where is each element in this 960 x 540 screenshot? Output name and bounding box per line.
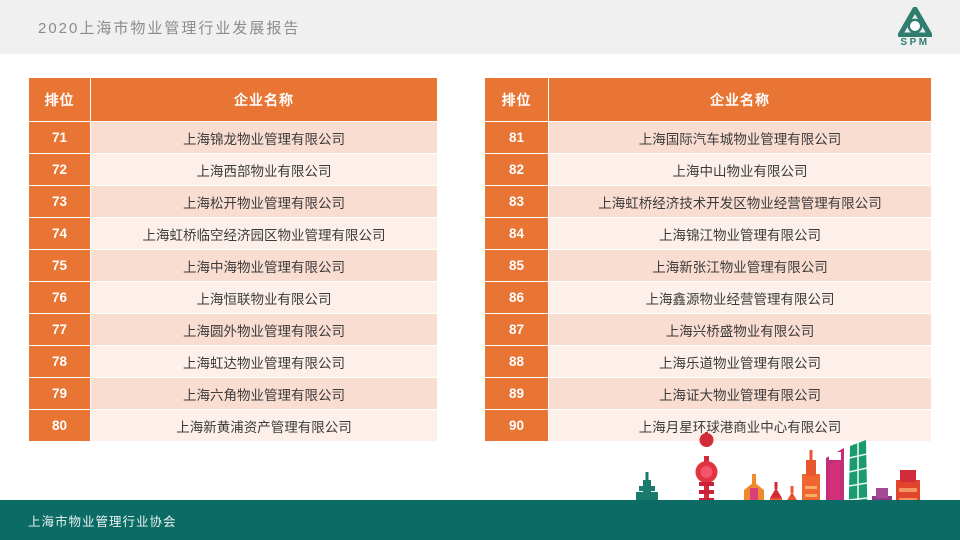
table-row[interactable]: 76上海恒联物业有限公司 [29, 282, 438, 314]
cell-company: 上海虹桥经济技术开发区物业经营管理有限公司 [549, 186, 932, 218]
cell-rank: 88 [485, 346, 549, 378]
cell-rank: 80 [29, 410, 91, 442]
table-row[interactable]: 74上海虹桥临空经济园区物业管理有限公司 [29, 218, 438, 250]
table-row[interactable]: 86上海鑫源物业经营管理有限公司 [485, 282, 932, 314]
cell-company: 上海虹桥临空经济园区物业管理有限公司 [91, 218, 438, 250]
cell-company: 上海新张江物业管理有限公司 [549, 250, 932, 282]
table-row[interactable]: 77上海圆外物业管理有限公司 [29, 314, 438, 346]
table-row[interactable]: 83上海虹桥经济技术开发区物业经营管理有限公司 [485, 186, 932, 218]
column-header-company: 企业名称 [549, 78, 932, 122]
cell-rank: 72 [29, 154, 91, 186]
cell-rank: 84 [485, 218, 549, 250]
cell-company: 上海松开物业管理有限公司 [91, 186, 438, 218]
cell-rank: 79 [29, 378, 91, 410]
logo-text: SPM [900, 38, 929, 48]
cell-rank: 85 [485, 250, 549, 282]
cell-company: 上海锦龙物业管理有限公司 [91, 122, 438, 154]
cell-company: 上海月星环球港商业中心有限公司 [549, 410, 932, 442]
cell-company: 上海兴桥盛物业有限公司 [549, 314, 932, 346]
column-header-company: 企业名称 [91, 78, 438, 122]
cell-company: 上海西部物业有限公司 [91, 154, 438, 186]
cell-company: 上海虹达物业管理有限公司 [91, 346, 438, 378]
triangle-circle-logo-icon [898, 7, 932, 37]
cell-rank: 78 [29, 346, 91, 378]
column-header-rank: 排位 [485, 78, 549, 122]
table-row[interactable]: 90上海月星环球港商业中心有限公司 [485, 410, 932, 442]
cell-rank: 76 [29, 282, 91, 314]
footer-organization-name: 上海市物业管理行业协会 [28, 500, 177, 540]
cell-rank: 83 [485, 186, 549, 218]
cell-rank: 90 [485, 410, 549, 442]
cell-rank: 73 [29, 186, 91, 218]
cell-rank: 87 [485, 314, 549, 346]
cell-rank: 77 [29, 314, 91, 346]
spm-logo: SPM [886, 3, 944, 51]
table-row[interactable]: 78上海虹达物业管理有限公司 [29, 346, 438, 378]
table-row[interactable]: 80上海新黄浦资产管理有限公司 [29, 410, 438, 442]
table-row[interactable]: 88上海乐道物业管理有限公司 [485, 346, 932, 378]
cell-company: 上海新黄浦资产管理有限公司 [91, 410, 438, 442]
table-row[interactable]: 72上海西部物业有限公司 [29, 154, 438, 186]
column-header-rank: 排位 [29, 78, 91, 122]
cell-company: 上海鑫源物业经营管理有限公司 [549, 282, 932, 314]
cell-company: 上海证大物业管理有限公司 [549, 378, 932, 410]
cell-rank: 82 [485, 154, 549, 186]
table-header-row: 排位 企业名称 [485, 78, 932, 122]
header-bar: 2020上海市物业管理行业发展报告 SPM [0, 0, 960, 54]
table-row[interactable]: 84上海锦江物业管理有限公司 [485, 218, 932, 250]
ranking-table-left: 排位 企业名称 71上海锦龙物业管理有限公司 72上海西部物业有限公司 73上海… [28, 77, 438, 442]
table-row[interactable]: 87上海兴桥盛物业有限公司 [485, 314, 932, 346]
cell-company: 上海乐道物业管理有限公司 [549, 346, 932, 378]
cell-rank: 89 [485, 378, 549, 410]
cell-company: 上海中山物业有限公司 [549, 154, 932, 186]
table-header-row: 排位 企业名称 [29, 78, 438, 122]
table-row[interactable]: 89上海证大物业管理有限公司 [485, 378, 932, 410]
cell-company: 上海六角物业管理有限公司 [91, 378, 438, 410]
cell-rank: 71 [29, 122, 91, 154]
table-row[interactable]: 85上海新张江物业管理有限公司 [485, 250, 932, 282]
cell-company: 上海锦江物业管理有限公司 [549, 218, 932, 250]
footer-bar: 上海市物业管理行业协会 [0, 500, 960, 540]
cell-rank: 75 [29, 250, 91, 282]
cell-rank: 81 [485, 122, 549, 154]
cell-company: 上海中海物业管理有限公司 [91, 250, 438, 282]
table-row[interactable]: 71上海锦龙物业管理有限公司 [29, 122, 438, 154]
table-row[interactable]: 73上海松开物业管理有限公司 [29, 186, 438, 218]
cell-company: 上海恒联物业有限公司 [91, 282, 438, 314]
cell-rank: 86 [485, 282, 549, 314]
ranking-tables-container: 排位 企业名称 71上海锦龙物业管理有限公司 72上海西部物业有限公司 73上海… [0, 77, 960, 442]
ranking-table-right: 排位 企业名称 81上海国际汽车城物业管理有限公司 82上海中山物业有限公司 8… [484, 77, 932, 442]
cell-rank: 74 [29, 218, 91, 250]
table-row[interactable]: 75上海中海物业管理有限公司 [29, 250, 438, 282]
page-title: 2020上海市物业管理行业发展报告 [38, 0, 300, 54]
table-row[interactable]: 81上海国际汽车城物业管理有限公司 [485, 122, 932, 154]
cell-company: 上海国际汽车城物业管理有限公司 [549, 122, 932, 154]
cell-company: 上海圆外物业管理有限公司 [91, 314, 438, 346]
table-row[interactable]: 79上海六角物业管理有限公司 [29, 378, 438, 410]
table-row[interactable]: 82上海中山物业有限公司 [485, 154, 932, 186]
